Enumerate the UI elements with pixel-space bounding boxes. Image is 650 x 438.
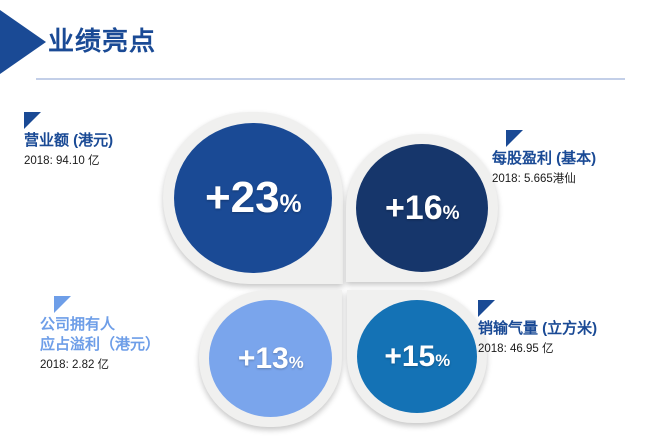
metric-label-title-profit-line2: 应占溢利（港元） <box>40 335 160 355</box>
triangle-marker-icon <box>24 112 41 129</box>
metric-label-revenue: 营业额 (港元) 2018: 94.10 亿 <box>24 112 113 169</box>
metric-label-title-profit-line1: 公司拥有人 <box>40 315 160 335</box>
metric-circle-gas: +15% <box>357 300 477 413</box>
metrics-flower: +23% +16% +13% +15% <box>163 112 511 420</box>
percent-sign-profit: % <box>289 353 303 372</box>
metric-tile-profit[interactable]: +13% <box>199 290 342 427</box>
metric-value-eps: +16% <box>356 191 488 225</box>
header-divider <box>36 78 625 80</box>
metric-label-eps: 每股盈利 (基本) 2018: 5.665港仙 <box>492 130 596 187</box>
metric-label-profit: 公司拥有人 应占溢利（港元） 2018: 2.82 亿 <box>40 296 160 373</box>
metric-tile-gas[interactable]: +15% <box>347 290 487 423</box>
metric-label-gas: 销输气量 (立方米) 2018: 46.95 亿 <box>478 300 597 357</box>
metric-value-profit: +13% <box>209 344 332 374</box>
triangle-marker-icon <box>478 300 495 317</box>
metric-label-title-revenue: 营业额 (港元) <box>24 131 113 151</box>
page-title: 业绩亮点 <box>48 20 156 62</box>
metric-tile-revenue[interactable]: +23% <box>163 112 343 284</box>
metric-label-title-eps: 每股盈利 (基本) <box>492 149 596 169</box>
metric-label-sub-gas: 2018: 46.95 亿 <box>478 341 597 357</box>
metric-value-gas: +15% <box>357 342 477 372</box>
metric-circle-eps: +16% <box>356 144 488 272</box>
metric-value-revenue: +23% <box>174 176 332 220</box>
percent-sign-gas: % <box>435 351 449 370</box>
metric-value-number-gas: +15 <box>384 340 435 373</box>
metric-value-number-revenue: +23 <box>205 173 280 222</box>
metric-label-title-gas: 销输气量 (立方米) <box>478 319 597 339</box>
header-arrow-icon <box>0 10 46 74</box>
metric-label-sub-profit: 2018: 2.82 亿 <box>40 357 160 373</box>
metric-circle-profit: +13% <box>209 300 332 417</box>
metric-label-sub-revenue: 2018: 94.10 亿 <box>24 153 113 169</box>
metric-value-number-profit: +13 <box>238 342 289 375</box>
metric-tile-eps[interactable]: +16% <box>346 134 498 282</box>
triangle-marker-icon <box>506 130 523 147</box>
metric-value-number-eps: +16 <box>385 189 443 227</box>
percent-sign-eps: % <box>443 203 459 224</box>
metric-circle-revenue: +23% <box>174 123 332 273</box>
triangle-marker-icon <box>54 296 71 313</box>
metric-label-sub-eps: 2018: 5.665港仙 <box>492 171 596 187</box>
percent-sign-revenue: % <box>280 191 301 218</box>
